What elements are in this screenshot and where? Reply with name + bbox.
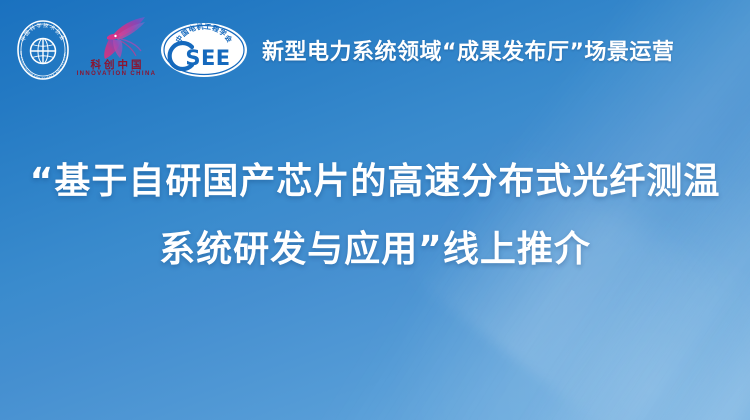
header-title: 新型电力系统领域“成果发布厅”场景运营 <box>262 34 674 66</box>
page-title-line-2: 系统研发与应用”线上推介 <box>0 216 750 284</box>
innovation-china-logo: 科创中国 INNOVATION CHINA <box>78 15 154 85</box>
svg-text:SEE: SEE <box>185 46 230 70</box>
logo-group: 中国科学技术协会 CHINA ASSOCIATION FOR SCIENCE A… <box>12 15 250 85</box>
page-title: “基于自研国产芯片的高速分布式光纤测温 系统研发与应用”线上推介 <box>0 148 750 284</box>
page-title-line-1: “基于自研国产芯片的高速分布式光纤测温 <box>0 148 750 216</box>
header-bar: 中国科学技术协会 CHINA ASSOCIATION FOR SCIENCE A… <box>0 0 750 100</box>
innovation-china-cn-text: 科创中国 <box>88 60 145 71</box>
csee-logo: 中国电机工程学会 SEE <box>158 19 250 81</box>
innovation-china-en-text: INNOVATION CHINA <box>76 71 157 78</box>
cast-logo: 中国科学技术协会 CHINA ASSOCIATION FOR SCIENCE A… <box>12 17 74 83</box>
poster-canvas: 中国科学技术协会 CHINA ASSOCIATION FOR SCIENCE A… <box>0 0 750 420</box>
